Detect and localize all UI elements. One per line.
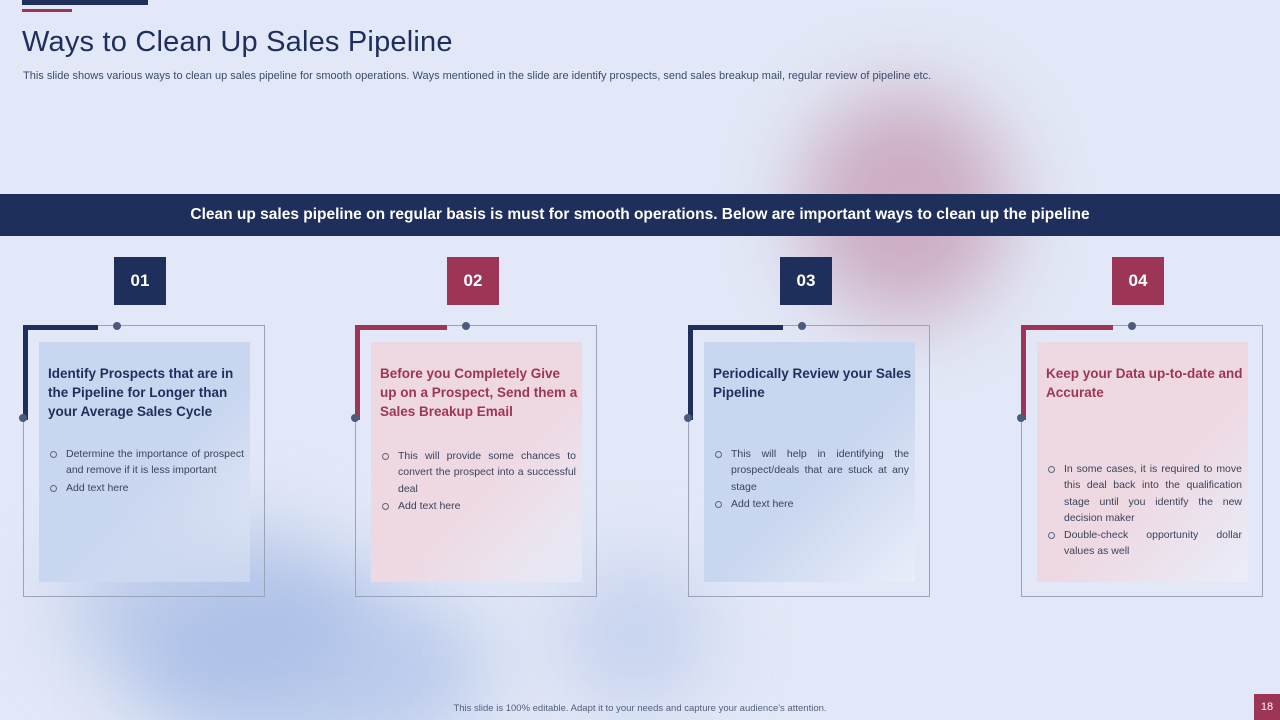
list-item: Add text here <box>48 480 244 496</box>
card-accent-vertical <box>688 325 693 420</box>
connector-dot-left <box>19 414 27 422</box>
card-bullet-list: In some cases, it is required to move th… <box>1046 461 1242 561</box>
page-number-badge: 18 <box>1254 694 1280 720</box>
card-bullet-list: This will help in identifying the prospe… <box>713 446 909 513</box>
step-card-03[interactable]: Periodically Review your Sales PipelineT… <box>688 325 930 597</box>
decorative-blob-blue-2 <box>130 580 490 720</box>
connector-dot-top <box>113 322 121 330</box>
card-accent-vertical <box>23 325 28 420</box>
page-subtitle: This slide shows various ways to clean u… <box>23 70 1203 82</box>
step-card-04[interactable]: Keep your Data up-to-date and AccurateIn… <box>1021 325 1263 597</box>
step-card-01[interactable]: Identify Prospects that are in the Pipel… <box>23 325 265 597</box>
connector-dot-top <box>1128 322 1136 330</box>
connector-dot-left <box>684 414 692 422</box>
list-item: Add text here <box>380 498 576 514</box>
footer-note: This slide is 100% editable. Adapt it to… <box>0 703 1280 714</box>
accent-bar-navy <box>22 0 148 5</box>
accent-bar-maroon <box>22 9 72 12</box>
step-number-badge-01: 01 <box>114 257 166 305</box>
card-heading: Identify Prospects that are in the Pipel… <box>48 364 248 421</box>
list-item: In some cases, it is required to move th… <box>1046 461 1242 526</box>
banner-text: Clean up sales pipeline on regular basis… <box>190 206 1089 224</box>
card-heading: Keep your Data up-to-date and Accurate <box>1046 364 1246 402</box>
list-item: This will help in identifying the prospe… <box>713 446 909 495</box>
list-item: Double-check opportunity dollar values a… <box>1046 527 1242 560</box>
step-number-badge-02: 02 <box>447 257 499 305</box>
card-bullet-list: This will provide some chances to conver… <box>380 448 576 515</box>
page-title: Ways to Clean Up Sales Pipeline <box>22 26 453 59</box>
list-item: Determine the importance of prospect and… <box>48 446 244 479</box>
connector-dot-top <box>798 322 806 330</box>
step-card-02[interactable]: Before you Completely Give up on a Prosp… <box>355 325 597 597</box>
card-accent-horizontal <box>355 325 447 330</box>
connector-dot-left <box>351 414 359 422</box>
card-accent-vertical <box>1021 325 1026 420</box>
card-heading: Before you Completely Give up on a Prosp… <box>380 364 580 421</box>
step-number-badge-03: 03 <box>780 257 832 305</box>
card-heading: Periodically Review your Sales Pipeline <box>713 364 913 402</box>
list-item: Add text here <box>713 496 909 512</box>
card-accent-horizontal <box>688 325 783 330</box>
connector-dot-left <box>1017 414 1025 422</box>
step-number-badge-04: 04 <box>1112 257 1164 305</box>
banner-strip: Clean up sales pipeline on regular basis… <box>0 194 1280 236</box>
slide-canvas: Ways to Clean Up Sales Pipeline This sli… <box>0 0 1280 720</box>
card-accent-vertical <box>355 325 360 420</box>
card-bullet-list: Determine the importance of prospect and… <box>48 446 244 497</box>
list-item: This will provide some chances to conver… <box>380 448 576 497</box>
connector-dot-top <box>462 322 470 330</box>
card-accent-horizontal <box>1021 325 1113 330</box>
card-accent-horizontal <box>23 325 98 330</box>
